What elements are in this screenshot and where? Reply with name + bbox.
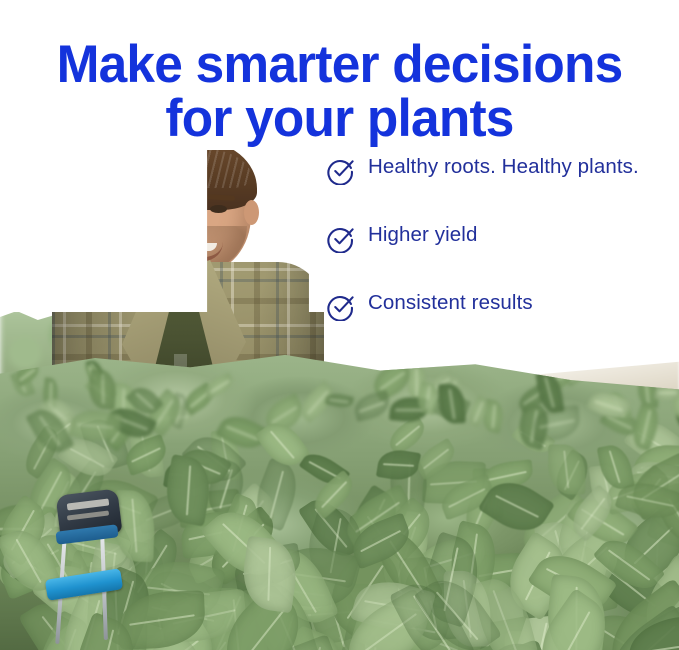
leaf [412, 438, 460, 480]
leaf [626, 521, 679, 605]
leaf [231, 542, 304, 591]
leaf [398, 554, 460, 642]
leaf [305, 572, 366, 650]
leaf [443, 520, 503, 601]
leaf [26, 403, 75, 459]
leaf [350, 572, 436, 639]
leaf [58, 429, 119, 485]
leaf [531, 404, 581, 441]
leaf [596, 442, 635, 492]
leaf [512, 485, 599, 564]
leaf [623, 452, 679, 521]
leaf [120, 541, 171, 623]
forearm-right [217, 466, 287, 567]
leaf [652, 484, 679, 550]
smartphone [185, 524, 247, 569]
leaf [499, 604, 578, 650]
leaf [66, 581, 153, 650]
meter-probe [100, 532, 108, 640]
leaf [258, 566, 336, 618]
leaf [557, 538, 619, 619]
leaf [84, 375, 116, 406]
leaf [159, 588, 247, 644]
leaf [180, 573, 274, 650]
leaf [427, 371, 455, 395]
leaf [247, 575, 322, 650]
meter-blue-crossbar [45, 568, 123, 601]
leaf [195, 492, 268, 556]
leaf [86, 358, 105, 383]
leaf [533, 518, 590, 591]
leaf [295, 582, 377, 644]
leaf [200, 458, 251, 520]
leaf [673, 466, 679, 548]
leaf [372, 511, 439, 595]
benefit-item-1: Healthy roots. Healthy plants. [326, 152, 676, 220]
leaf [472, 468, 503, 518]
leaf [200, 497, 289, 589]
leaf [238, 595, 327, 650]
leaf [374, 496, 441, 563]
leaf [50, 515, 132, 579]
leaf [83, 541, 142, 615]
leaf [0, 525, 78, 600]
leaf [113, 627, 216, 650]
leaf [144, 558, 232, 634]
leaf [566, 488, 639, 555]
leaf [631, 459, 679, 503]
ear-right [244, 200, 259, 225]
leaf [255, 414, 311, 473]
meter-body [56, 488, 123, 539]
leaf [181, 516, 269, 584]
jeans-creases [126, 610, 310, 650]
leaf [65, 611, 147, 650]
leaf [0, 501, 56, 557]
leaf [673, 396, 679, 426]
leaf [121, 434, 170, 476]
leaf [1, 525, 88, 618]
leaf [338, 484, 417, 550]
leaf [431, 390, 471, 424]
leaf [212, 481, 287, 556]
leaf [480, 399, 506, 434]
leaf [215, 409, 270, 457]
leaf [535, 370, 564, 415]
leaf [12, 360, 42, 387]
leaf [30, 412, 81, 455]
leaf [346, 513, 415, 570]
leaf [10, 369, 35, 399]
leaf [52, 524, 140, 595]
leaf [495, 532, 579, 622]
leaf [527, 542, 617, 623]
leaf [384, 595, 488, 650]
leaf [480, 460, 535, 493]
leaf [114, 490, 156, 562]
leaf [642, 478, 679, 535]
leaf [260, 392, 309, 436]
leaf [670, 505, 679, 589]
benefits-list: Healthy roots. Healthy plants. Higher yi… [326, 152, 676, 356]
leaf [656, 571, 679, 650]
promo-banner: Make smarter decisions for your plants H… [0, 0, 679, 650]
leaf [57, 549, 118, 631]
leaf [314, 539, 417, 644]
leaf [627, 588, 679, 650]
leaf [0, 522, 62, 600]
headline-line-1: Make smarter decisions [10, 38, 669, 92]
leaf [251, 545, 341, 635]
leaf [437, 474, 498, 521]
leaf [25, 464, 92, 537]
leaf [98, 409, 139, 452]
leaf [299, 447, 351, 493]
leaf [105, 401, 158, 445]
leaf [180, 426, 247, 492]
leaf [599, 404, 641, 441]
leaf [439, 639, 563, 650]
leaf [55, 459, 113, 522]
eye-right [210, 205, 227, 213]
leaf [435, 373, 468, 412]
leaf [641, 600, 679, 650]
leaf [585, 542, 675, 632]
leaf [602, 471, 656, 515]
leaf [637, 376, 657, 408]
meter-label-strip [67, 510, 109, 520]
leaf [239, 535, 301, 613]
benefit-item-2: Higher yield [326, 220, 676, 288]
leaf [268, 538, 362, 617]
leaf [344, 484, 408, 552]
leaf [593, 529, 666, 599]
leaf [412, 567, 501, 650]
leaf [114, 528, 189, 609]
plant-field [0, 336, 679, 650]
leaf [240, 634, 344, 650]
leaf [211, 493, 266, 565]
leaf [414, 531, 489, 628]
leaf [316, 614, 400, 650]
leaf [371, 521, 445, 613]
leaf [200, 505, 286, 586]
leaf [325, 391, 354, 410]
leaf [69, 406, 123, 445]
knee-highlight [130, 580, 280, 650]
leaf [435, 386, 459, 421]
leaf [613, 595, 679, 650]
leaf [548, 500, 623, 589]
leaf [376, 447, 422, 483]
leaf [471, 573, 541, 650]
leaf [207, 587, 268, 650]
hand-right [199, 536, 266, 598]
leaf [474, 625, 585, 650]
leaf [118, 590, 207, 650]
leaf [106, 382, 139, 432]
leaf [85, 363, 101, 386]
leaf [446, 553, 523, 598]
meter-label-strip [67, 498, 110, 510]
leaf [25, 610, 106, 650]
leaf [646, 492, 679, 559]
leaf [348, 498, 414, 572]
leaf [41, 377, 60, 410]
leaf [389, 572, 476, 650]
leaf [37, 392, 77, 432]
leaf [336, 587, 442, 650]
leaf [541, 365, 574, 393]
leaf [300, 504, 373, 590]
check-circle-icon [326, 224, 355, 253]
leaf [90, 566, 160, 650]
leaf [18, 591, 113, 650]
leaf [515, 381, 554, 413]
shirt-button [177, 436, 184, 443]
greenhouse-wall [430, 352, 679, 422]
leaf [414, 380, 441, 415]
rolled-sleeve-cuff [61, 483, 152, 541]
shirt-pocket [208, 394, 270, 446]
leaf [26, 525, 97, 606]
benefit-label: Healthy roots. Healthy plants. [368, 152, 639, 181]
leaf [368, 358, 417, 402]
leaf [665, 378, 679, 424]
leaf [614, 475, 679, 526]
leaf [457, 476, 510, 538]
leaf [209, 582, 317, 650]
leaf [112, 609, 228, 650]
leaf [0, 494, 57, 567]
leaf [136, 619, 230, 650]
benefit-label: Higher yield [368, 220, 477, 249]
leaf [412, 533, 489, 586]
leaf [87, 369, 117, 410]
leaf [405, 362, 428, 401]
leaf [0, 521, 38, 590]
leaf [586, 386, 632, 425]
leaf [503, 631, 574, 650]
leaf [444, 570, 492, 647]
forearm-left [72, 518, 125, 608]
page-title: Make smarter decisions for your plants [10, 36, 669, 146]
shirt-pocket-flap [206, 386, 268, 400]
leaf [248, 458, 306, 532]
leaf [84, 575, 152, 650]
leaf [134, 489, 200, 535]
gravel-path [0, 432, 175, 582]
meter-blue-band [55, 524, 118, 544]
leaf [162, 454, 215, 526]
leaf [519, 567, 593, 619]
leaf [328, 618, 419, 650]
leaf [180, 382, 217, 416]
hand-left [62, 583, 128, 644]
leaf [439, 383, 466, 424]
leaf [631, 553, 679, 650]
soil-moisture-meter [44, 492, 154, 642]
leaf [261, 625, 359, 650]
leaf [177, 489, 241, 529]
leaf [18, 424, 66, 479]
leaf [125, 381, 164, 420]
leaf [308, 470, 360, 520]
leaf [671, 430, 679, 490]
leaf [589, 463, 627, 511]
leaf [175, 441, 233, 493]
leaf [655, 383, 679, 402]
leaf [131, 576, 186, 650]
eyebrow-right [207, 194, 235, 201]
leaf [628, 615, 679, 650]
leaf [600, 604, 679, 650]
leaf [154, 617, 258, 650]
leaf [29, 603, 146, 650]
shirt-button [177, 480, 184, 487]
leaf [163, 457, 210, 493]
leaf [404, 554, 479, 610]
leaf [622, 465, 677, 521]
leaf [197, 498, 268, 549]
leaf [76, 468, 159, 542]
wristwatch [227, 545, 272, 574]
leaf [297, 491, 363, 566]
background-plant-rows [0, 308, 210, 458]
leaf [633, 443, 679, 489]
leaf [513, 401, 553, 451]
leaf [465, 395, 492, 427]
leaf [140, 387, 188, 437]
leaf [136, 581, 228, 646]
leaf [511, 418, 556, 459]
leaf [179, 511, 240, 560]
leaf [201, 373, 235, 401]
leaf [389, 395, 429, 424]
leaf [79, 413, 132, 475]
wedding-ring [216, 575, 225, 582]
leaf [437, 616, 543, 650]
leaf [0, 520, 71, 604]
leaf [31, 550, 124, 640]
leaf [0, 511, 71, 580]
leaf [526, 588, 622, 650]
leaf [531, 604, 610, 650]
shirt-button [177, 392, 184, 399]
leaf [351, 390, 392, 422]
leaf [51, 583, 128, 650]
leaf [152, 406, 191, 429]
headline-line-2: for your plants [10, 92, 669, 146]
leaf [595, 578, 679, 650]
leaf [211, 429, 242, 481]
leaf [607, 390, 632, 423]
leaf [480, 628, 582, 650]
leaf [549, 445, 586, 495]
leaf [165, 391, 192, 429]
check-circle-icon [326, 292, 355, 321]
leaf [539, 523, 632, 611]
leaf [548, 449, 595, 501]
leaf [543, 573, 610, 650]
nursery-pot-trays [0, 420, 130, 540]
jeans [122, 536, 318, 650]
benefit-item-3: Consistent results [326, 288, 676, 356]
leaf [422, 460, 486, 506]
shirt-placket [174, 354, 187, 560]
leaf [351, 587, 453, 650]
leaf [578, 599, 679, 650]
leaf [387, 454, 431, 513]
leaf [95, 538, 167, 600]
leaf [131, 553, 225, 630]
leaf [478, 471, 555, 542]
leaf [564, 484, 621, 542]
leaf [610, 503, 679, 586]
meter-probe [55, 536, 67, 644]
leaf [262, 538, 338, 632]
leaf [384, 415, 430, 456]
leaf [294, 380, 339, 423]
leaf [19, 456, 81, 525]
leaf [60, 525, 105, 591]
check-circle-icon [326, 156, 355, 185]
leaf [623, 412, 679, 471]
leaf [647, 355, 668, 377]
leaf [562, 361, 592, 387]
leaf [129, 427, 164, 479]
shirt-button [177, 524, 184, 531]
leaf [399, 584, 460, 650]
leaf [627, 402, 664, 453]
benefit-label: Consistent results [368, 288, 533, 317]
leaf [628, 456, 679, 492]
plant-leaves [0, 336, 679, 650]
